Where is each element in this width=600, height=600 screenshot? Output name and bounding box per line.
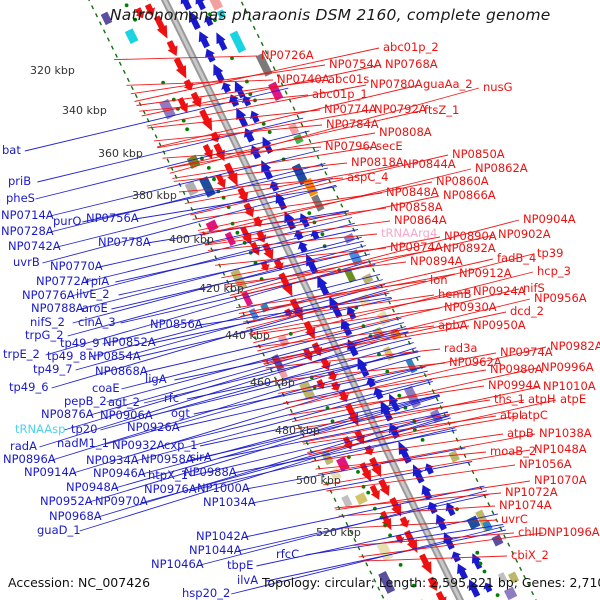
gene-label[interactable]: nadM1_1 xyxy=(57,438,109,450)
gene-label[interactable]: abc01s xyxy=(328,74,369,86)
gene-label[interactable]: atpB xyxy=(507,428,534,440)
gene-label[interactable]: NP0996A xyxy=(541,362,594,374)
gene-label[interactable]: NP0844A xyxy=(403,159,456,171)
gene-label[interactable]: NP0778A xyxy=(98,237,151,249)
gene-label[interactable]: NP1010A xyxy=(543,381,596,393)
gene-label[interactable]: aspC_4 xyxy=(347,172,388,184)
gene-label[interactable]: NP0808A xyxy=(379,127,432,139)
gene-label[interactable]: chlID xyxy=(518,527,547,539)
gene-label[interactable]: NP0792A xyxy=(374,104,427,116)
gene-label[interactable]: NP0924A xyxy=(473,286,526,298)
gene-label[interactable]: NP0970A xyxy=(95,496,148,508)
gene-label[interactable]: NP0756A xyxy=(86,213,139,225)
gene-label[interactable]: NP0776A xyxy=(22,290,75,302)
gene-label[interactable]: NP0740A xyxy=(277,74,330,86)
gene-label[interactable]: rad3a xyxy=(444,343,477,355)
gene-label[interactable]: fadB_4 xyxy=(497,253,536,265)
gene-label[interactable]: atpE xyxy=(560,394,586,406)
gene-label[interactable]: NP0866A xyxy=(443,190,496,202)
gene-label[interactable]: NP0974A xyxy=(500,347,553,359)
scale-tick: 440 kbp xyxy=(225,329,270,342)
gene-label[interactable]: NP0896A xyxy=(3,454,56,466)
gene-label[interactable]: NP0930A xyxy=(444,302,497,314)
gene-label[interactable]: tbpE xyxy=(227,560,253,572)
gene-label[interactable]: tp39 xyxy=(537,248,563,260)
scale-tick: 400 kbp xyxy=(169,233,214,246)
gene-label[interactable]: bat xyxy=(2,145,21,157)
gene-label[interactable]: NP0788A xyxy=(31,303,84,315)
gene-label[interactable]: radA xyxy=(10,441,37,453)
scale-tick: 520 kbp xyxy=(316,526,361,539)
gene-label[interactable]: NP0864A xyxy=(394,215,447,227)
gene-label[interactable]: NP0742A xyxy=(8,241,61,253)
gene-label[interactable]: NP0976A xyxy=(144,484,197,496)
genome-map-canvas[interactable]: Natronomonas pharaonis DSM 2160, complet… xyxy=(0,0,600,600)
gene-label[interactable]: cinA_3 xyxy=(78,317,116,329)
gene-label[interactable]: rfcC xyxy=(276,549,299,561)
gene-label[interactable]: aroE xyxy=(82,303,108,315)
gene-label[interactable]: NP0994A xyxy=(488,380,541,392)
gene-label[interactable]: moaB_2 xyxy=(490,446,536,458)
gene-label[interactable]: NP1056A xyxy=(519,459,572,471)
gene-label[interactable]: NP0968A xyxy=(49,511,102,523)
gene-label[interactable]: NP0914A xyxy=(24,467,77,479)
scale-tick: 500 kbp xyxy=(296,474,341,487)
gene-label[interactable]: NP0772A xyxy=(36,276,89,288)
gene-label[interactable]: ogt xyxy=(171,408,190,420)
gene-label[interactable]: NP0876A xyxy=(41,409,94,421)
gene-label[interactable]: purO xyxy=(53,216,81,228)
gene-label[interactable]: NP0714A xyxy=(1,210,54,222)
gene-label[interactable]: NP0796A xyxy=(325,141,378,153)
gene-label[interactable]: NP0868A xyxy=(95,366,148,378)
gene-label[interactable]: NP0980A xyxy=(490,364,543,376)
gene-label[interactable]: NP0950A xyxy=(473,320,526,332)
gene-label[interactable]: tRNAAsp xyxy=(15,424,65,436)
gene-label[interactable]: hcp_3 xyxy=(537,266,571,278)
gene-label[interactable]: tp20 xyxy=(71,424,97,436)
gene-label[interactable]: apbA xyxy=(438,320,468,332)
gene-label[interactable]: cbiX_2 xyxy=(511,550,549,562)
scale-tick: 360 kbp xyxy=(98,147,143,160)
gene-label[interactable]: NP0852A xyxy=(103,337,156,349)
gene-label[interactable]: sirA xyxy=(190,452,212,464)
gene-label[interactable]: abc01p_2 xyxy=(383,42,439,54)
gene-label[interactable]: NP0862A xyxy=(475,163,528,175)
scale-tick: 340 kbp xyxy=(62,104,107,117)
gene-label[interactable]: NP1038A xyxy=(539,428,592,440)
gene-label[interactable]: NP0774A xyxy=(324,104,377,116)
gene-label[interactable]: NP0856A xyxy=(150,319,203,331)
gene-label[interactable]: NP1034A xyxy=(203,497,256,509)
gene-label[interactable]: ligA xyxy=(145,374,167,386)
gene-label[interactable]: NP0948A xyxy=(66,482,119,494)
gene-label[interactable]: NP0926A xyxy=(127,422,180,434)
gene-label[interactable]: trpE_2 xyxy=(3,349,40,361)
gene-label[interactable]: tp49_6 xyxy=(9,382,49,394)
gene-label[interactable]: NP1048A xyxy=(534,444,587,456)
gene-label[interactable]: NP0982A xyxy=(550,341,600,353)
gene-label[interactable]: NP0726A xyxy=(261,50,314,62)
gene-label[interactable]: NP0956A xyxy=(534,293,587,305)
gene-label[interactable]: tp49_9 xyxy=(60,338,100,350)
gene-label[interactable]: NP0912A xyxy=(459,268,512,280)
genome-stats-text: Topology: circular; Length: 2,595,221 bp… xyxy=(262,575,600,590)
accession-text: Accession: NC_007426 xyxy=(8,575,150,590)
gene-label[interactable]: secE xyxy=(376,141,403,153)
gene-label[interactable]: NP0874A xyxy=(390,242,443,254)
gene-label[interactable]: nusG xyxy=(483,82,512,94)
gene-label[interactable]: atpI xyxy=(500,410,522,422)
gene-label[interactable]: NP0932A xyxy=(112,440,165,452)
gene-label[interactable]: tp49_7 xyxy=(33,364,73,376)
gene-label[interactable]: NP0934A xyxy=(86,455,139,467)
scale-tick: 460 kbp xyxy=(250,376,295,389)
gene-label[interactable]: ilvE_2 xyxy=(76,289,110,301)
scale-tick: 420 kbp xyxy=(199,282,244,295)
gene-label[interactable]: NP1000A xyxy=(197,483,250,495)
gene-label[interactable]: htpX_1 xyxy=(148,470,188,482)
gene-label[interactable]: NP0902A xyxy=(498,229,551,241)
gene-label[interactable]: NP0728A xyxy=(1,226,54,238)
gene-label[interactable]: coaE xyxy=(92,383,120,395)
gene-label[interactable]: NP1044A xyxy=(189,545,242,557)
gene-label[interactable]: hemB xyxy=(438,289,471,301)
gene-label[interactable]: tp49_8 xyxy=(47,351,87,363)
gene-label[interactable]: NP1042A xyxy=(196,531,249,543)
gene-label[interactable]: NP0988A xyxy=(184,467,237,479)
gene-label[interactable]: ftsZ_1 xyxy=(424,105,459,117)
gene-label[interactable]: NP0958A xyxy=(141,454,194,466)
gene-label[interactable]: NP0946A xyxy=(93,468,146,480)
gene-label[interactable]: NP0892A xyxy=(443,243,496,255)
gene-label[interactable]: agt_2 xyxy=(108,397,140,409)
gene-label[interactable]: atpC xyxy=(521,410,548,422)
gene-label[interactable]: NP0754A xyxy=(329,59,382,71)
page-title: Natronomonas pharaonis DSM 2160, complet… xyxy=(110,6,530,24)
gene-label[interactable]: nifS_2 xyxy=(30,317,65,329)
gene-label[interactable]: rpiA xyxy=(86,276,109,288)
gene-label[interactable]: ths_1 xyxy=(494,394,525,406)
gene-label[interactable]: lon xyxy=(430,275,448,287)
gene-label[interactable]: rfc xyxy=(164,393,179,405)
gene-label[interactable]: pheS xyxy=(6,193,35,205)
scale-tick: 320 kbp xyxy=(30,64,75,77)
gene-label[interactable]: NP0854A xyxy=(88,351,141,363)
gene-label[interactable]: uvrC xyxy=(501,514,528,526)
gene-label[interactable]: pepB_2 xyxy=(64,396,107,408)
gene-label[interactable]: guaD_1 xyxy=(37,525,81,537)
gene-label[interactable]: uvrB xyxy=(13,257,40,269)
gene-label[interactable]: NP0894A xyxy=(410,256,463,268)
gene-label[interactable]: NP0780A xyxy=(370,79,423,91)
scale-tick: 480 kbp xyxy=(275,424,320,437)
gene-label[interactable]: NP0768A xyxy=(385,59,438,71)
gene-label[interactable]: NP0848A xyxy=(386,187,439,199)
gene-label[interactable]: NP0818A xyxy=(351,157,404,169)
gene-label[interactable]: tRNAArg4 xyxy=(381,228,437,240)
gene-label[interactable]: guaAa_2 xyxy=(423,79,473,91)
gene-label[interactable]: NP1074A xyxy=(499,500,552,512)
gene-label[interactable]: NP0850A xyxy=(452,149,505,161)
gene-label[interactable]: NP0860A xyxy=(436,176,489,188)
gene-label[interactable]: hsp20_2 xyxy=(182,588,230,600)
gene-label[interactable]: NP0952A xyxy=(40,496,93,508)
gene-label[interactable]: priB xyxy=(8,176,31,188)
gene-label[interactable]: NP1046A xyxy=(151,559,204,571)
gene-label[interactable]: NP0858A xyxy=(390,202,443,214)
gene-label[interactable]: NP0770A xyxy=(50,261,103,273)
gene-label[interactable]: abc01p_1 xyxy=(312,89,368,101)
gene-label[interactable]: ilvA xyxy=(237,575,258,587)
gene-label[interactable]: trpG_2 xyxy=(25,330,64,342)
gene-label[interactable]: atpH xyxy=(528,394,556,406)
gene-label[interactable]: NP1096A xyxy=(547,527,600,539)
gene-label[interactable]: NP1072A xyxy=(505,487,558,499)
gene-label[interactable]: NP0904A xyxy=(523,214,576,226)
scale-tick: 380 kbp xyxy=(132,189,177,202)
gene-label[interactable]: dcd_2 xyxy=(510,306,544,318)
gene-label[interactable]: NP0784A xyxy=(326,119,379,131)
